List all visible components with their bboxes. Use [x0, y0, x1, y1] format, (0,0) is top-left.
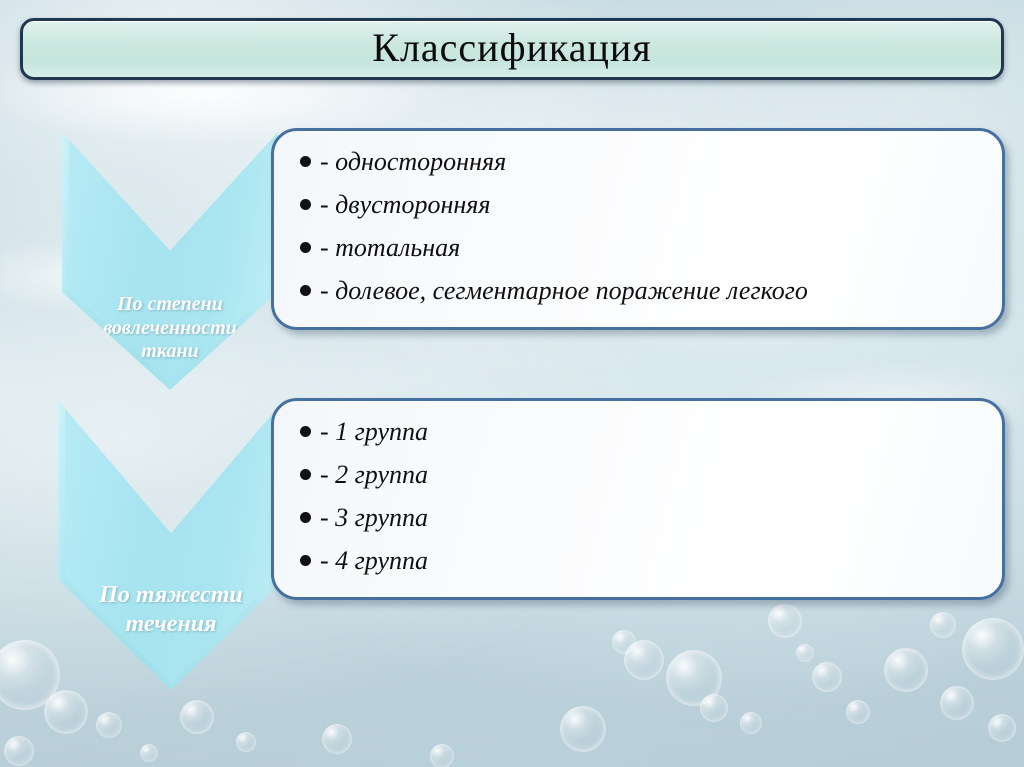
list-item-label: - 2 группа — [320, 462, 428, 488]
list-item-label: - двусторонняя — [320, 192, 490, 218]
bullet-icon — [300, 285, 311, 296]
list-item: - двусторонняя — [300, 192, 1002, 235]
page-title: Классификация — [372, 28, 651, 68]
bullet-icon — [300, 512, 311, 523]
bullet-list-involvement: - односторонняя - двусторонняя - тотальн… — [300, 149, 1002, 321]
bullet-list-severity: - 1 группа - 2 группа - 3 группа - 4 гру… — [300, 419, 1002, 591]
list-item: - 2 группа — [300, 462, 1002, 505]
bullet-icon — [300, 242, 311, 253]
bullet-icon — [300, 199, 311, 210]
list-item-label: - 4 группа — [320, 548, 428, 574]
bullet-icon — [300, 426, 311, 437]
slide-title-bar: Классификация — [20, 18, 1004, 80]
list-item-label: - 1 группа — [320, 419, 428, 445]
list-item: - 4 группа — [300, 548, 1002, 591]
bullet-icon — [300, 156, 311, 167]
list-item: - односторонняя — [300, 149, 1002, 192]
list-item: - 1 группа — [300, 419, 1002, 462]
list-item: - тотальная — [300, 235, 1002, 278]
content-box-severity: - 1 группа - 2 группа - 3 группа - 4 гру… — [271, 398, 1005, 600]
content-box-involvement: - односторонняя - двусторонняя - тотальн… — [271, 128, 1005, 330]
list-item-label: - 3 группа — [320, 505, 428, 531]
list-item-label: - долевое, сегментарное поражение легког… — [320, 278, 808, 304]
bullet-icon — [300, 469, 311, 480]
list-item-label: - односторонняя — [320, 149, 506, 175]
bullet-icon — [300, 555, 311, 566]
list-item: - 3 группа — [300, 505, 1002, 548]
slide-canvas: Классификация По степени вовлеченности т… — [0, 0, 1024, 767]
list-item-label: - тотальная — [320, 235, 460, 261]
list-item: - долевое, сегментарное поражение легког… — [300, 278, 1002, 321]
